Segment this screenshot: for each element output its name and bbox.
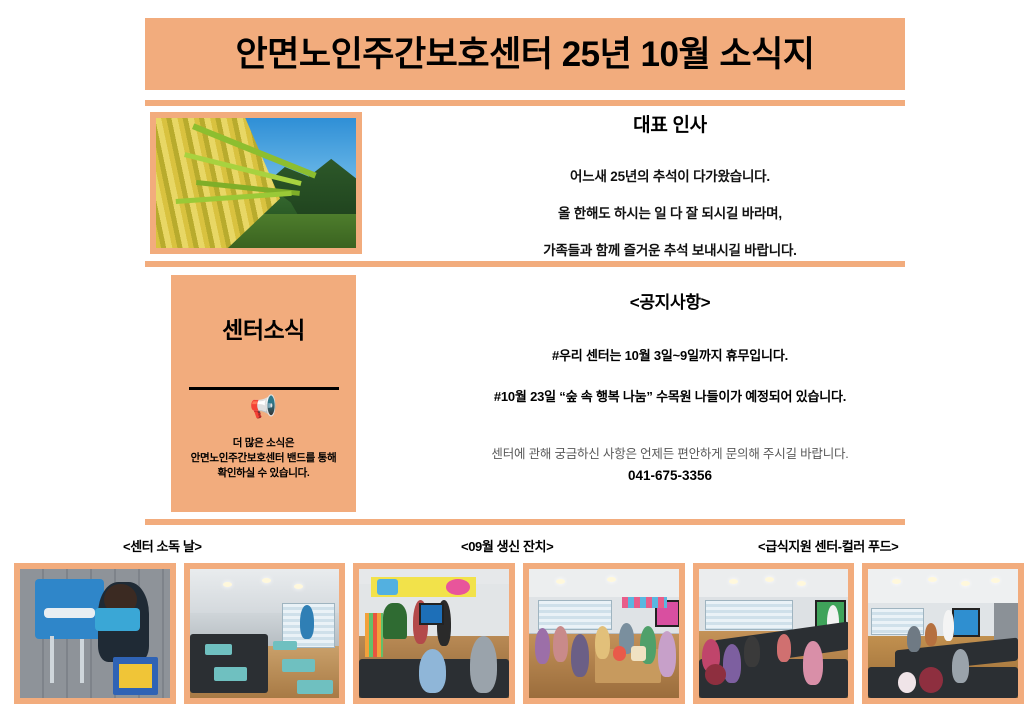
greeting-line: 올 한해도 하시는 일 다 잘 되시길 바라며, xyxy=(400,202,940,222)
notice-item: #10월 23일 “숲 속 행복 나눔” 수목원 나들이가 예정되어 있습니다. xyxy=(400,386,940,405)
newsletter-page: 안면노인주간보호센터 25년 10월 소식지 대표 인사 어느새 25년의 추석… xyxy=(0,0,1035,714)
greeting-line: 어느새 25년의 추석이 다가왔습니다. xyxy=(400,165,940,185)
gallery-photo xyxy=(862,563,1024,704)
gallery-captions: <센터 소독 날> <09월 생신 잔치> <급식지원 센터-컬러 푸드> xyxy=(0,536,1035,558)
gallery-photo-image xyxy=(529,569,679,698)
center-news-subline: 확인하실 수 있습니다. xyxy=(171,466,356,481)
contact-message: 센터에 관해 궁금하신 사항은 언제든 편안하게 문의해 주시길 바랍니다. xyxy=(400,443,940,462)
gallery-caption: <급식지원 센터-컬러 푸드> xyxy=(758,536,898,555)
center-news-subline: 안면노인주간보호센터 밴드를 통해 xyxy=(171,451,356,466)
divider-middle xyxy=(145,261,905,267)
gallery-caption: <센터 소독 날> xyxy=(123,536,202,555)
center-news-card: 센터소식 📢 더 많은 소식은 안면노인주간보호센터 밴드를 통해 확인하실 수… xyxy=(171,275,356,512)
greeting-heading: 대표 인사 xyxy=(400,110,940,137)
gallery-photo xyxy=(523,563,685,704)
notices-section: <공지사항> #우리 센터는 10월 3일~9일까지 휴무입니다. #10월 2… xyxy=(400,288,940,483)
center-news-subtext: 더 많은 소식은 안면노인주간보호센터 밴드를 통해 확인하실 수 있습니다. xyxy=(171,436,356,482)
greeting-line: 가족들과 함께 즐거운 추석 보내시길 바랍니다. xyxy=(400,239,940,259)
gallery-photo xyxy=(693,563,855,704)
center-news-rule xyxy=(189,387,339,390)
greeting-photo xyxy=(150,112,362,254)
center-news-heading: 센터소식 xyxy=(171,311,356,345)
gallery-photo-image xyxy=(190,569,340,698)
notice-item: #우리 센터는 10월 3일~9일까지 휴무입니다. xyxy=(400,345,940,364)
page-title: 안면노인주간보호센터 25년 10월 소식지 xyxy=(235,37,814,72)
gallery-photo-image xyxy=(359,569,509,698)
gallery-photo-image xyxy=(20,569,170,698)
gallery-photo xyxy=(14,563,176,704)
contact-block: 센터에 관해 궁금하신 사항은 언제든 편안하게 문의해 주시길 바랍니다. 0… xyxy=(400,443,940,483)
gallery-caption: <09월 생신 잔치> xyxy=(461,536,553,555)
gallery-strip xyxy=(14,563,1024,704)
center-news-subline: 더 많은 소식은 xyxy=(171,436,356,451)
gallery-photo-image xyxy=(868,569,1018,698)
notices-heading: <공지사항> xyxy=(400,288,940,313)
contact-phone: 041-675-3356 xyxy=(400,468,940,483)
gallery-photo xyxy=(353,563,515,704)
divider-bottom xyxy=(145,519,905,525)
newsletter-title-banner: 안면노인주간보호센터 25년 10월 소식지 xyxy=(145,18,905,90)
greeting-section: 대표 인사 어느새 25년의 추석이 다가왔습니다. 올 한해도 하시는 일 다… xyxy=(400,110,940,276)
divider-top xyxy=(145,100,905,106)
gallery-photo-image xyxy=(699,569,849,698)
gallery-photo xyxy=(184,563,346,704)
greeting-photo-image xyxy=(156,118,356,248)
megaphone-icon: 📢 xyxy=(171,396,356,422)
